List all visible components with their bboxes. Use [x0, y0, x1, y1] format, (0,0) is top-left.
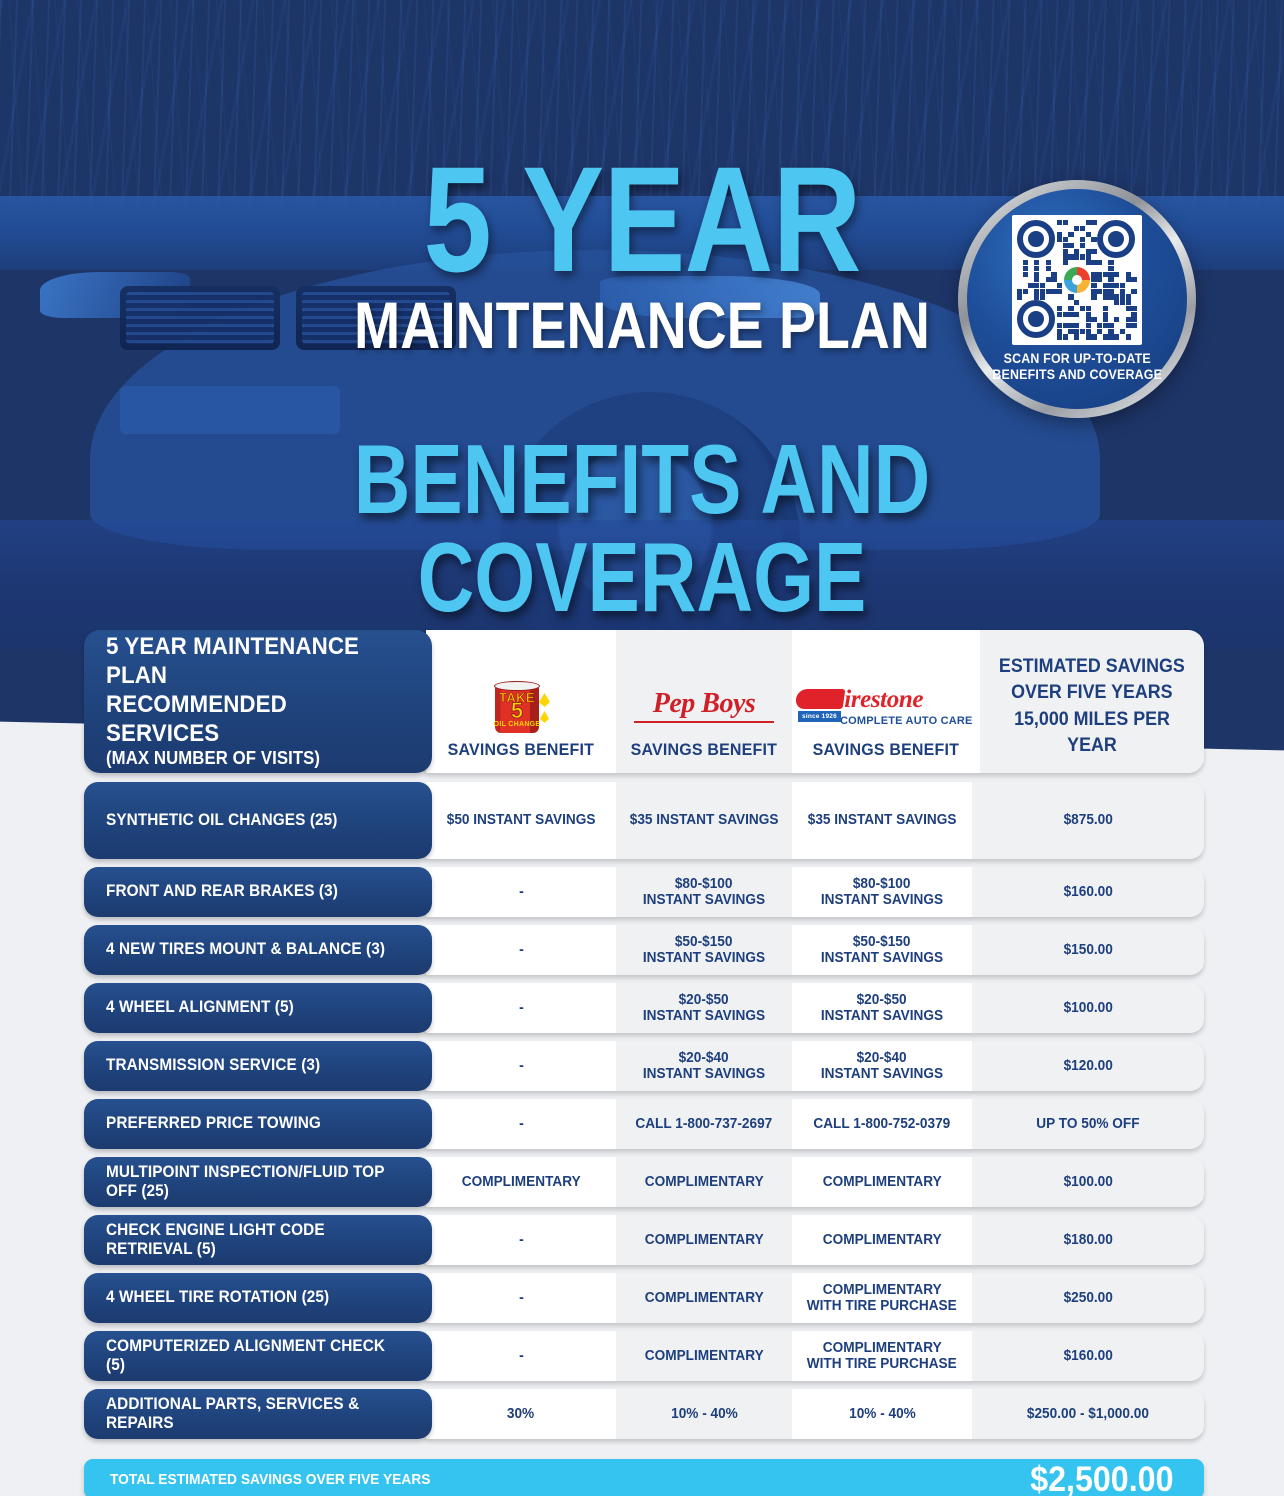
- cell-estimated-savings: $150.00: [972, 925, 1204, 975]
- estimated-savings-line-2: OVER FIVE YEARS: [1011, 680, 1172, 706]
- take-5-oil-change-logo: TAKE 5 OIL CHANGE: [489, 678, 553, 736]
- cell-firestone: $20-$50INSTANT SAVINGS: [792, 983, 972, 1033]
- cell-pepboys: 10% - 40%: [616, 1389, 792, 1439]
- firestone-logo: Firestone since 1926 COMPLETE AUTO CARE: [796, 678, 976, 736]
- title-benefits-and-coverage: BENEFITS AND COVERAGE: [128, 430, 1155, 626]
- pep-boys-underline: [634, 721, 774, 723]
- table-row: PREFERRED PRICE TOWING-CALL 1-800-737-26…: [84, 1099, 1204, 1149]
- cell-estimated-savings: $100.00: [972, 983, 1204, 1033]
- cell-pepboys: COMPLIMENTARY: [616, 1331, 792, 1381]
- cell-pepboys: $80-$100INSTANT SAVINGS: [616, 867, 792, 917]
- table-row: MULTIPOINT INSPECTION/FLUID TOP OFF (25)…: [84, 1157, 1204, 1207]
- header-caption-take5: SAVINGS BENEFIT: [448, 740, 594, 759]
- cell-firestone: $50-$150INSTANT SAVINGS: [792, 925, 972, 975]
- pep-boys-logo: Pep Boys: [634, 678, 774, 736]
- cell-firestone: CALL 1-800-752-0379: [792, 1099, 972, 1149]
- cell-firestone: COMPLIMENTARYWITH TIRE PURCHASE: [792, 1331, 972, 1381]
- row-label-cell: CHECK ENGINE LIGHT CODE RETRIEVAL (5): [84, 1215, 432, 1265]
- header-caption-firestone: SAVINGS BENEFIT: [813, 740, 959, 759]
- total-savings-bar: TOTAL ESTIMATED SAVINGS OVER FIVE YEARS …: [84, 1459, 1204, 1496]
- benefits-table: 5 YEAR MAINTENANCE PLAN RECOMMENDED SERV…: [84, 630, 1204, 1447]
- table-row: SYNTHETIC OIL CHANGES (25)$50 INSTANT SA…: [84, 782, 1204, 859]
- qr-code-image[interactable]: [1012, 215, 1142, 345]
- qr-center-logo: [1064, 267, 1090, 293]
- table-row: ADDITIONAL PARTS, SERVICES & REPAIRS30%1…: [84, 1389, 1204, 1439]
- row-label: TRANSMISSION SERVICE (3): [106, 1056, 320, 1075]
- cell-estimated-savings: $875.00: [972, 782, 1204, 859]
- oil-drop-icon-2: [540, 711, 549, 723]
- cell-take5: 30%: [426, 1389, 616, 1439]
- cell-take5: COMPLIMENTARY: [426, 1157, 616, 1207]
- row-label: ADDITIONAL PARTS, SERVICES & REPAIRS: [106, 1395, 389, 1433]
- qr-caption: SCAN FOR UP-TO-DATE BENEFITS AND COVERAG…: [992, 351, 1162, 383]
- cell-estimated-savings: $120.00: [972, 1041, 1204, 1091]
- cell-pepboys: $20-$40INSTANT SAVINGS: [616, 1041, 792, 1091]
- table-row: COMPUTERIZED ALIGNMENT CHECK (5)-COMPLIM…: [84, 1331, 1204, 1381]
- row-label-cell: 4 WHEEL ALIGNMENT (5): [84, 983, 432, 1033]
- cell-firestone: $35 INSTANT SAVINGS: [792, 782, 972, 859]
- cell-estimated-savings: $180.00: [972, 1215, 1204, 1265]
- row-label-cell: ADDITIONAL PARTS, SERVICES & REPAIRS: [84, 1389, 432, 1439]
- cell-pepboys: COMPLIMENTARY: [616, 1157, 792, 1207]
- row-label: PREFERRED PRICE TOWING: [106, 1114, 321, 1133]
- total-savings-value: $2,500.00: [1031, 1462, 1174, 1496]
- qr-caption-line-2: BENEFITS AND COVERAGE: [992, 367, 1162, 383]
- cell-firestone: 10% - 40%: [792, 1389, 972, 1439]
- cell-firestone: $20-$40INSTANT SAVINGS: [792, 1041, 972, 1091]
- header-col-take5: TAKE 5 OIL CHANGE SAVINGS BENEFIT: [426, 630, 616, 773]
- cell-take5: -: [426, 925, 616, 975]
- row-label-cell: SYNTHETIC OIL CHANGES (25): [84, 782, 432, 859]
- row-label-cell: MULTIPOINT INSPECTION/FLUID TOP OFF (25): [84, 1157, 432, 1207]
- cell-estimated-savings: $250.00: [972, 1273, 1204, 1323]
- cell-take5: -: [426, 867, 616, 917]
- cell-pepboys: $50-$150INSTANT SAVINGS: [616, 925, 792, 975]
- header-col-estimated-savings: ESTIMATED SAVINGS OVER FIVE YEARS 15,000…: [980, 630, 1204, 773]
- estimated-savings-line-1: ESTIMATED SAVINGS: [999, 654, 1185, 680]
- table-row: TRANSMISSION SERVICE (3)-$20-$40INSTANT …: [84, 1041, 1204, 1091]
- row-label: FRONT AND REAR BRAKES (3): [106, 882, 338, 901]
- qr-caption-line-1: SCAN FOR UP-TO-DATE: [992, 351, 1162, 367]
- row-label: 4 NEW TIRES MOUNT & BALANCE (3): [106, 940, 385, 959]
- total-savings-label: TOTAL ESTIMATED SAVINGS OVER FIVE YEARS: [110, 1471, 431, 1488]
- cell-take5: -: [426, 1041, 616, 1091]
- header-label-line-2: RECOMMENDED SERVICES: [106, 691, 389, 749]
- cell-estimated-savings: $160.00: [972, 867, 1204, 917]
- estimated-savings-line-3: 15,000 MILES PER YEAR: [990, 707, 1193, 759]
- cell-estimated-savings: UP TO 50% OFF: [972, 1099, 1204, 1149]
- cell-take5: -: [426, 1215, 616, 1265]
- cell-estimated-savings: $250.00 - $1,000.00: [972, 1389, 1204, 1439]
- cell-take5: -: [426, 983, 616, 1033]
- row-label-cell: 4 NEW TIRES MOUNT & BALANCE (3): [84, 925, 432, 975]
- cell-pepboys: $35 INSTANT SAVINGS: [616, 782, 792, 859]
- row-label-cell: 4 WHEEL TIRE ROTATION (25): [84, 1273, 432, 1323]
- header-col-firestone: Firestone since 1926 COMPLETE AUTO CARE …: [792, 630, 980, 773]
- cell-estimated-savings: $100.00: [972, 1157, 1204, 1207]
- table-row: 4 WHEEL ALIGNMENT (5)-$20-$50INSTANT SAV…: [84, 983, 1204, 1033]
- row-label: COMPUTERIZED ALIGNMENT CHECK (5): [106, 1337, 389, 1375]
- oil-drop-icon-1: [539, 693, 550, 707]
- row-label-cell: COMPUTERIZED ALIGNMENT CHECK (5): [84, 1331, 432, 1381]
- row-label-cell: TRANSMISSION SERVICE (3): [84, 1041, 432, 1091]
- cell-pepboys: COMPLIMENTARY: [616, 1273, 792, 1323]
- firestone-since-badge: since 1926: [798, 711, 841, 722]
- header-label-line-1: 5 YEAR MAINTENANCE PLAN: [106, 633, 389, 691]
- take5-logo-subtext: OIL CHANGE: [493, 721, 541, 729]
- table-row: 4 NEW TIRES MOUNT & BALANCE (3)-$50-$150…: [84, 925, 1204, 975]
- cell-take5: -: [426, 1331, 616, 1381]
- header-col-pepboys: Pep Boys SAVINGS BENEFIT: [616, 630, 792, 773]
- cell-firestone: $80-$100INSTANT SAVINGS: [792, 867, 972, 917]
- cell-estimated-savings: $160.00: [972, 1331, 1204, 1381]
- row-label: 4 WHEEL ALIGNMENT (5): [106, 998, 294, 1017]
- row-label: SYNTHETIC OIL CHANGES (25): [106, 811, 337, 830]
- cell-pepboys: COMPLIMENTARY: [616, 1215, 792, 1265]
- table-row: 4 WHEEL TIRE ROTATION (25)-COMPLIMENTARY…: [84, 1273, 1204, 1323]
- cell-pepboys: CALL 1-800-737-2697: [616, 1099, 792, 1149]
- qr-code-badge[interactable]: SCAN FOR UP-TO-DATE BENEFITS AND COVERAG…: [958, 180, 1196, 418]
- table-header-row: 5 YEAR MAINTENANCE PLAN RECOMMENDED SERV…: [84, 630, 1204, 773]
- header-caption-pepboys: SAVINGS BENEFIT: [631, 740, 777, 759]
- row-label: 4 WHEEL TIRE ROTATION (25): [106, 1288, 329, 1307]
- cell-firestone: COMPLIMENTARY: [792, 1157, 972, 1207]
- cell-firestone: COMPLIMENTARYWITH TIRE PURCHASE: [792, 1273, 972, 1323]
- cell-take5: -: [426, 1273, 616, 1323]
- cell-firestone: COMPLIMENTARY: [792, 1215, 972, 1265]
- header-label-line-3: (MAX NUMBER OF VISITS): [106, 748, 389, 770]
- row-label: CHECK ENGINE LIGHT CODE RETRIEVAL (5): [106, 1221, 389, 1259]
- take5-logo-number: 5: [497, 700, 537, 722]
- row-label-cell: FRONT AND REAR BRAKES (3): [84, 867, 432, 917]
- table-row: CHECK ENGINE LIGHT CODE RETRIEVAL (5)-CO…: [84, 1215, 1204, 1265]
- cell-take5: -: [426, 1099, 616, 1149]
- header-label-cell: 5 YEAR MAINTENANCE PLAN RECOMMENDED SERV…: [84, 630, 432, 773]
- pep-boys-logo-text: Pep Boys: [634, 690, 774, 718]
- table-row: FRONT AND REAR BRAKES (3)-$80-$100INSTAN…: [84, 867, 1204, 917]
- cell-take5: $50 INSTANT SAVINGS: [426, 782, 616, 859]
- cell-pepboys: $20-$50INSTANT SAVINGS: [616, 983, 792, 1033]
- row-label-cell: PREFERRED PRICE TOWING: [84, 1099, 432, 1149]
- firestone-swoosh-icon: [795, 689, 846, 709]
- row-label: MULTIPOINT INSPECTION/FLUID TOP OFF (25): [106, 1163, 389, 1201]
